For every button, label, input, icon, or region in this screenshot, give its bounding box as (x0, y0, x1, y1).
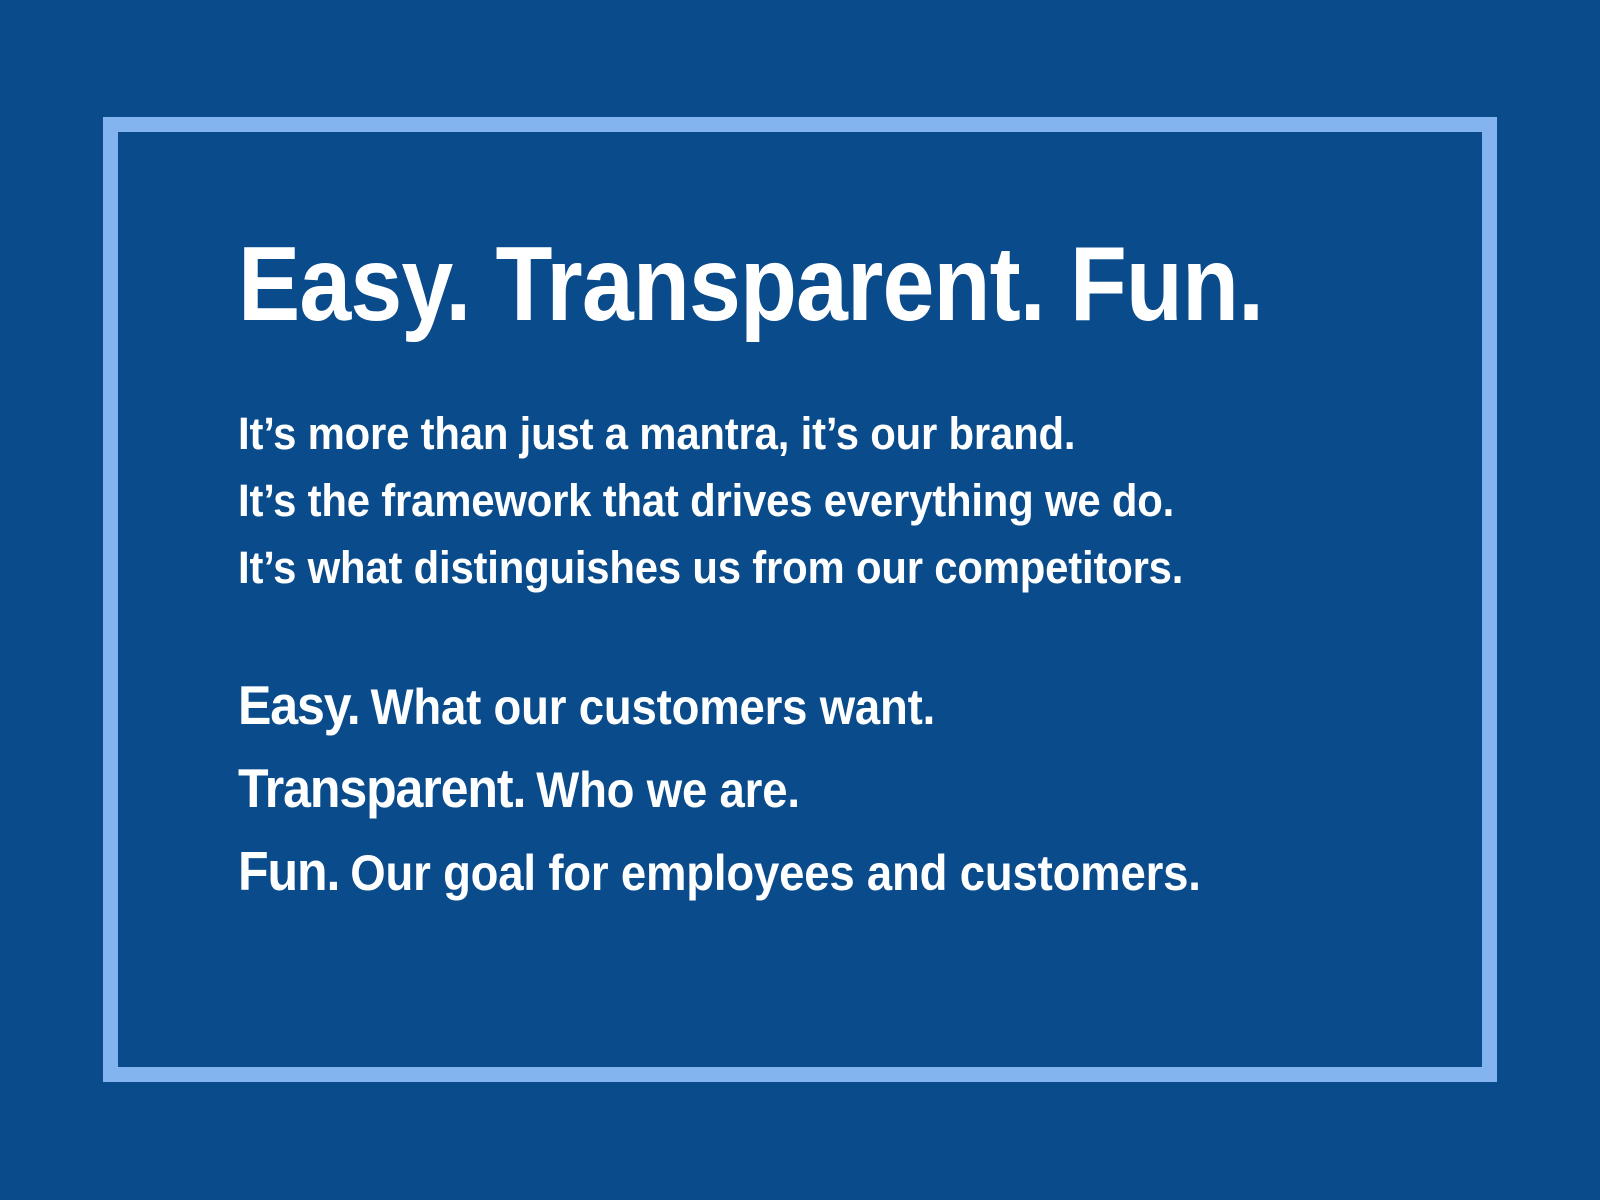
slide-content: Easy. Transparent. Fun. It’s more than j… (238, 228, 1418, 914)
definition-list: Easy.What our customers want. Transparen… (238, 601, 1312, 914)
intro-line-3: It’s what distinguishes us from our comp… (238, 534, 1335, 601)
page-title: Easy. Transparent. Fun. (238, 228, 1276, 340)
intro-line-2: It’s the framework that drives everythin… (238, 467, 1335, 534)
brand-mantra-slide: Easy. Transparent. Fun. It’s more than j… (0, 0, 1600, 1200)
definition-item-transparent: Transparent.Who we are. (238, 748, 1312, 831)
definition-item-easy: Easy.What our customers want. (238, 665, 1312, 748)
definition-term-easy: Easy. (238, 674, 360, 736)
definition-term-transparent: Transparent. (238, 757, 525, 819)
definition-term-fun: Fun. (238, 840, 339, 902)
definition-description-fun: Our goal for employees and customers. (350, 845, 1200, 901)
intro-paragraph: It’s more than just a mantra, it’s our b… (238, 340, 1335, 601)
definition-item-fun: Fun.Our goal for employees and customers… (238, 831, 1312, 914)
intro-line-1: It’s more than just a mantra, it’s our b… (238, 400, 1335, 467)
definition-description-transparent: Who we are. (536, 762, 799, 818)
definition-description-easy: What our customers want. (371, 679, 935, 735)
